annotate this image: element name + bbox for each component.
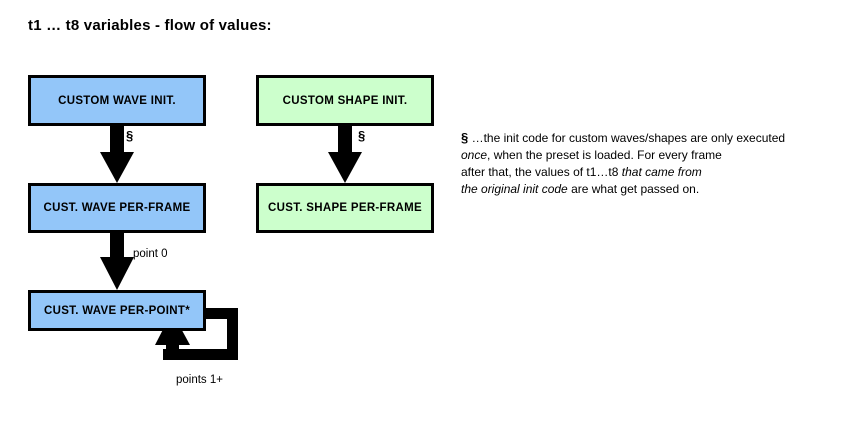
node-cust-wave-per-point[interactable]: CUST. WAVE PER-POINT* [28,290,206,331]
node-custom-shape-init[interactable]: CUSTOM SHAPE INIT. [256,75,434,126]
footnote-line1: …the init code for custom waves/shapes a… [472,131,786,145]
footnote-line4: are what get passed on. [568,182,699,196]
edge-label-wave-point-loop: points 1+ [176,374,223,386]
node-label: CUSTOM SHAPE INIT. [283,95,408,107]
edge-label-wave-frame-to-point: point 0 [133,248,168,260]
footnote-line4-italic: the original init code [461,182,568,196]
footnote-line3: after that, the values of t1…t8 [461,165,622,179]
edge-label-wave-init-to-frame: § [126,128,133,143]
arrow-shape-init-to-frame [328,126,362,183]
footnote-symbol: § [461,130,468,145]
edge-label-shape-init-to-frame: § [358,128,365,143]
footnote-line2: , when the preset is loaded. For every f… [487,148,722,162]
footnote-text: § …the init code for custom waves/shapes… [461,129,841,198]
node-label: CUST. WAVE PER-FRAME [44,202,191,214]
node-custom-wave-init[interactable]: CUSTOM WAVE INIT. [28,75,206,126]
node-label: CUST. WAVE PER-POINT* [44,305,190,317]
footnote-line2-italic: once [461,148,487,162]
node-cust-wave-per-frame[interactable]: CUST. WAVE PER-FRAME [28,183,206,233]
node-label: CUST. SHAPE PER-FRAME [268,202,422,214]
node-label: CUSTOM WAVE INIT. [58,95,176,107]
diagram-canvas: t1 … t8 variables - flow of values: CUST… [0,0,850,429]
footnote-line3-italic: that came from [622,165,702,179]
arrow-wave-frame-to-point [100,233,134,290]
node-cust-shape-per-frame[interactable]: CUST. SHAPE PER-FRAME [256,183,434,233]
